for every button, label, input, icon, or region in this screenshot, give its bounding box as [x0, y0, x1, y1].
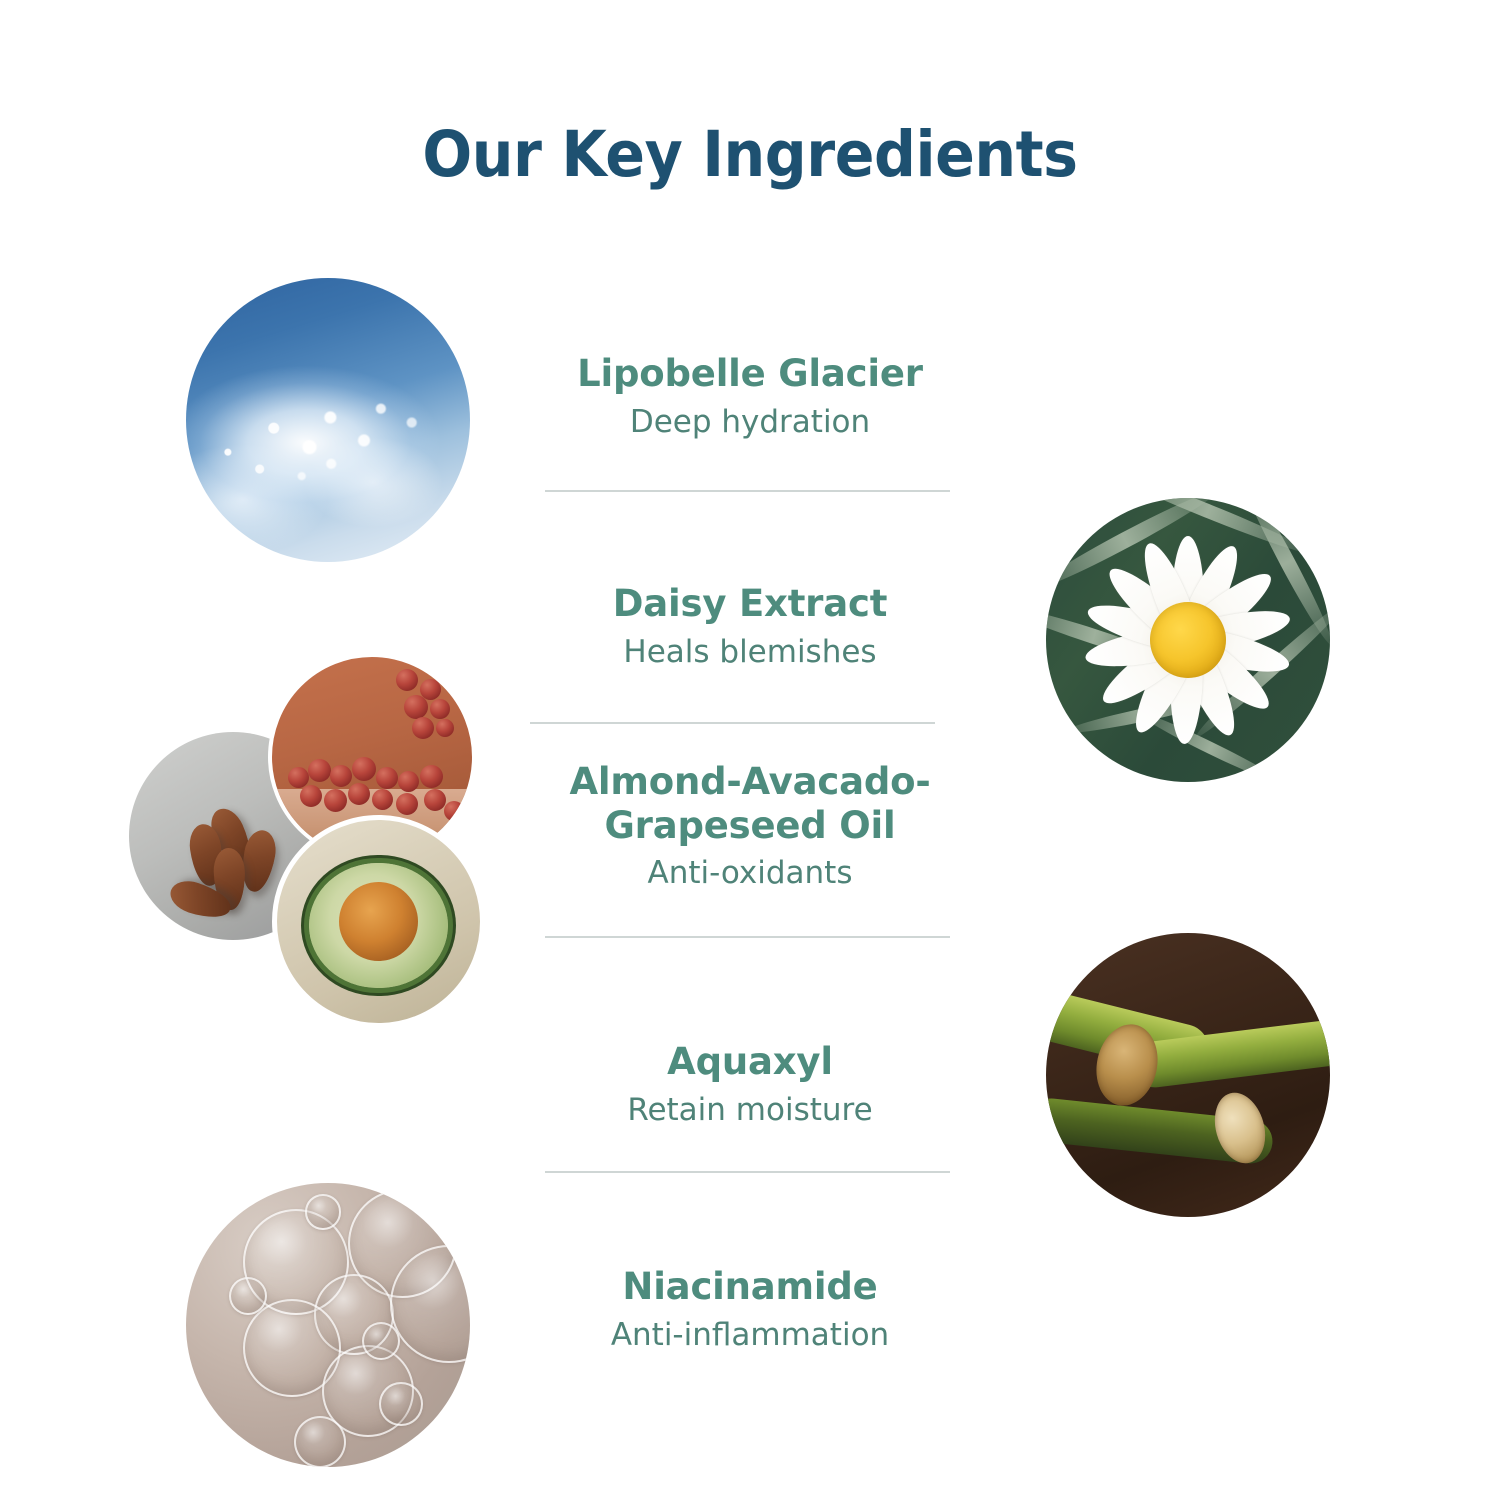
ingredient-item-aquaxyl: Aquaxyl Retain moisture: [495, 1040, 1005, 1130]
ingredient-item-daisy-extract: Daisy Extract Heals blemishes: [495, 582, 1005, 672]
ingredient-item-niacinamide: Niacinamide Anti-inflammation: [495, 1265, 1005, 1355]
daisy-center: [1150, 602, 1226, 678]
ice-crystal-texture: [186, 309, 470, 554]
ingredient-name-line-2: Grapeseed Oil: [495, 804, 1005, 848]
ingredient-item-lipobelle-glacier: Lipobelle Glacier Deep hydration: [495, 352, 1005, 442]
list-divider: [530, 722, 935, 724]
list-divider: [545, 936, 950, 938]
ingredient-name: Lipobelle Glacier: [495, 352, 1005, 396]
ingredient-name-line-1: Almond-Avacado-: [495, 760, 1005, 804]
ingredient-image-niacinamide: [186, 1183, 470, 1467]
ingredient-description: Anti-inflammation: [495, 1315, 1005, 1355]
avocado-pit: [339, 882, 418, 961]
ingredients-infographic: Our Key Ingredients: [0, 0, 1500, 1499]
ingredient-description: Anti-oxidants: [495, 853, 1005, 893]
list-divider: [545, 1171, 950, 1173]
ingredient-list: Lipobelle Glacier Deep hydration Daisy E…: [495, 0, 1005, 1499]
ingredient-name: Niacinamide: [495, 1265, 1005, 1309]
ingredient-name: Aquaxyl: [495, 1040, 1005, 1084]
ingredient-description: Deep hydration: [495, 402, 1005, 442]
ingredient-image-almond-avocado-grapeseed: [120, 645, 490, 1020]
ingredient-image-daisy-extract: [1046, 498, 1330, 782]
ingredient-image-lipobelle-glacier: [186, 278, 470, 562]
ingredient-description: Retain moisture: [495, 1090, 1005, 1130]
ingredient-description: Heals blemishes: [495, 632, 1005, 672]
avocado-photo: [272, 815, 485, 1028]
list-divider: [545, 490, 950, 492]
ingredient-name: Daisy Extract: [495, 582, 1005, 626]
ingredient-item-almond-avocado-grapeseed-oil: Almond-Avacado- Grapeseed Oil Anti-oxida…: [495, 760, 1005, 894]
ingredient-image-aquaxyl: [1046, 933, 1330, 1217]
